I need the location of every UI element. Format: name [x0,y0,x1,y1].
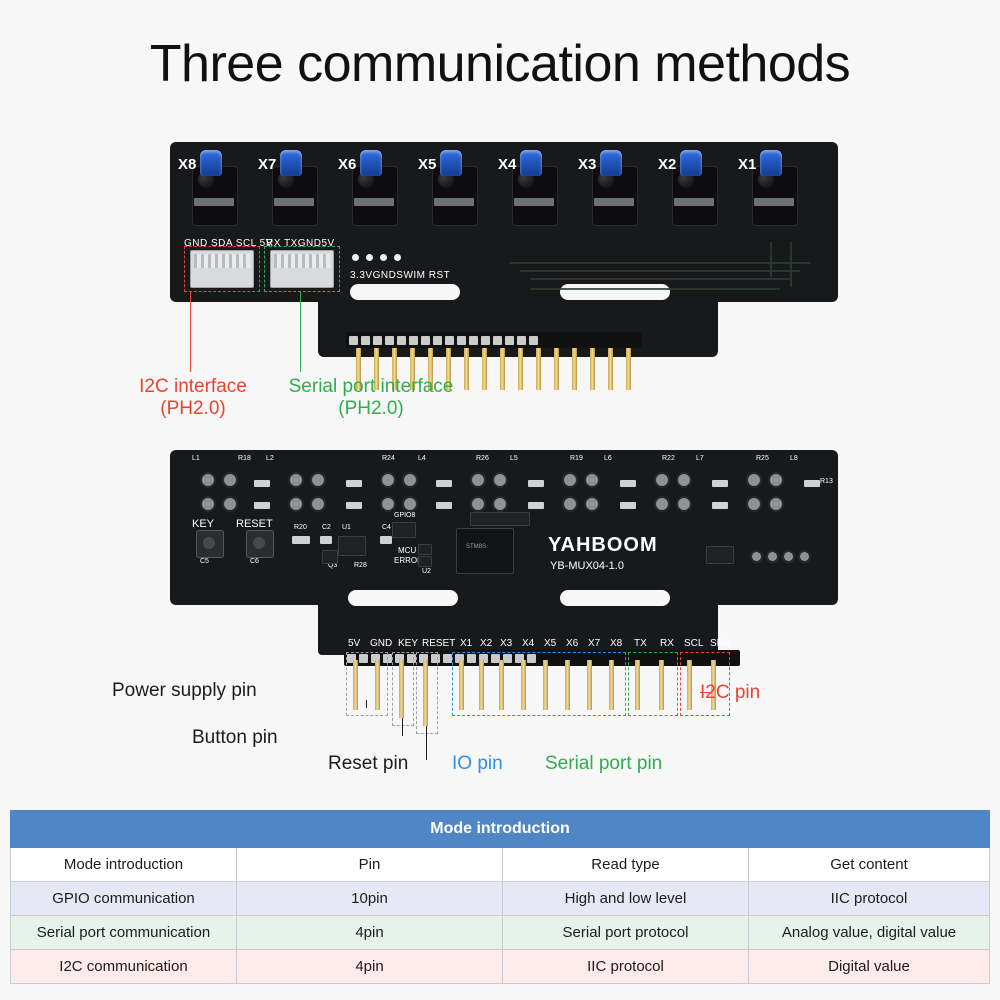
silk-u2: U2 [422,568,431,575]
silk-l6: L6 [604,455,612,462]
solder-pad [200,472,216,488]
callout-serial-sub: (PH2.0) [262,398,480,420]
silk-r28: R28 [354,562,367,569]
cell-mode: Serial port communication [11,916,237,950]
pin-silk-x2: X2 [480,638,492,649]
silk-l2: L2 [266,455,274,462]
header-pin [590,348,595,390]
pin-silk-gnd: GND [370,638,392,649]
reset-button[interactable] [246,530,274,558]
callout-serial-interface: Serial port interface (PH2.0) [262,376,480,420]
silk-r26: R26 [476,455,489,462]
smd-resistor [254,480,270,487]
top-board-diagram: X8 X7 X6 X5 X4 X3 X2 X1 GND SDA SCL 5V R… [170,142,838,402]
button-pin-box [392,652,414,726]
col-header-read: Read type [503,848,749,882]
solder-pad [766,550,779,563]
sensor-label-x8: X8 [178,156,196,173]
key-button[interactable] [196,530,224,558]
col-header-pin: Pin [237,848,503,882]
solder-pad [768,472,784,488]
pin-silk-x6: X6 [566,638,578,649]
cell-content: Digital value [749,950,990,984]
led-error [418,556,432,567]
pcb-trace [770,242,772,277]
solder-pad [562,496,578,512]
solder-pad [746,496,762,512]
callout-serial-port-pin: Serial port pin [545,753,662,775]
silk-r13: R13 [820,478,833,485]
board-slot-right [560,284,670,300]
pin-silk-x5: X5 [544,638,556,649]
pin-silk-key: KEY [398,638,418,649]
pin-silk-scl: SCL [684,638,703,649]
silk-c4: C4 [382,524,391,531]
io-pin-box [452,652,626,716]
smd-resistor [528,480,544,487]
table-header-row: Mode introduction Pin Read type Get cont… [11,848,990,882]
callout-power-supply-pin: Power supply pin [112,680,257,702]
solder-pad [492,472,508,488]
pin-silk-sda: SDA [710,638,731,649]
smd-block [706,546,734,564]
smd-resistor [528,502,544,509]
silk-l5: L5 [510,455,518,462]
pcb-trace [790,242,792,287]
cell-mode: I2C communication [11,950,237,984]
solder-pad [746,472,762,488]
ic-u1 [338,536,366,556]
board-model: YB-MUX04-1.0 [550,560,624,572]
pin-silk-tx: TX [634,638,647,649]
pin-silk-x7: X7 [588,638,600,649]
cell-content: Analog value, digital value [749,916,990,950]
solder-pad [584,472,600,488]
debug-header-silk: 3.3VGNDSWIM RST [350,270,450,281]
sensor-label-x6: X6 [338,156,356,173]
smd-resistor [346,480,362,487]
power-pin-box [346,652,388,716]
cell-pin: 4pin [237,950,503,984]
pcb-trace [530,288,780,290]
serial-pin-box [628,652,678,716]
silk-c8: C2 [322,524,331,531]
cell-read: Serial port protocol [503,916,749,950]
header-pin [608,348,613,390]
silk-gpio8: GPIO8 [394,512,415,519]
pin-silk-reset: RESET [422,638,455,649]
table-row: GPIO communication 10pin High and low le… [11,882,990,916]
solder-pad [222,496,238,512]
board-slot-left [350,284,460,300]
bottom-pin-header [346,332,642,348]
reset-leader-line [426,726,427,760]
gpio8-pads [392,522,416,538]
callout-i2c-pin: I2C pin [700,682,760,704]
solder-pad [288,472,304,488]
silk-reset: RESET [236,518,273,530]
smd-resistor [712,480,728,487]
pin-silk-x1: X1 [460,638,472,649]
solder-pad [782,550,795,563]
transistor-q3 [322,550,338,564]
solder-pad [402,472,418,488]
cell-read: High and low level [503,882,749,916]
sensor-label-x7: X7 [258,156,276,173]
silk-l8: L8 [790,455,798,462]
pcb-trace [530,278,790,280]
serial-leader-line [300,292,301,372]
solder-pad [380,496,396,512]
sensor-label-x2: X2 [658,156,676,173]
silk-c6: C6 [250,558,259,565]
smd-resistor [346,502,362,509]
pcb-trace [510,262,810,264]
led-mcu [418,544,432,555]
header-pin [536,348,541,390]
smd-resistor [804,480,820,487]
smd-resistor [436,502,452,509]
cell-content: IIC protocol [749,882,990,916]
mcu-chip-marking: STM8S [466,544,486,550]
sensor-label-x1: X1 [738,156,756,173]
solder-pad [470,496,486,512]
solder-pad [470,472,486,488]
solder-pad [288,496,304,512]
silk-mcu: MCU [398,546,416,555]
reset-pin-box [416,652,438,734]
solder-pad [654,496,670,512]
i2c-highlight-box [184,246,260,292]
silk-l7: L7 [696,455,704,462]
silk-c5: C5 [200,558,209,565]
header-pin [518,348,523,390]
solder-pad [222,472,238,488]
solder-pad [750,550,763,563]
solder-pad [310,472,326,488]
header-pin [626,348,631,390]
cell-read: IIC protocol [503,950,749,984]
smd-capacitor [380,536,392,544]
solder-pad [798,550,811,563]
pcb-trace [520,270,800,272]
smd-resistor [620,502,636,509]
smd-resistor [712,502,728,509]
solder-pad [584,496,600,512]
solder-pad [310,496,326,512]
page-title: Three communication methods [0,34,1000,94]
silk-r25: R25 [756,455,769,462]
header-pin [500,348,505,390]
pin-silk-5v: 5V [348,638,360,649]
test-header [470,512,530,526]
sensor-label-x5: X5 [418,156,436,173]
silk-r18: R18 [238,455,251,462]
pin-silk-x3: X3 [500,638,512,649]
board-slot-left [348,590,458,606]
solder-pad [380,472,396,488]
brand-logo: YAHBOOM [548,534,658,557]
header-pin [482,348,487,390]
table-row: Serial port communication 4pin Serial po… [11,916,990,950]
pin-silk-x8: X8 [610,638,622,649]
silk-r19: R19 [570,455,583,462]
mcu-chip [456,528,514,574]
pin-silk-x4: X4 [522,638,534,649]
solder-pad [676,472,692,488]
callout-reset-pin: Reset pin [328,753,408,775]
cell-mode: GPIO communication [11,882,237,916]
smd-resistor [254,502,270,509]
col-header-mode: Mode introduction [11,848,237,882]
header-pin [554,348,559,390]
cell-pin: 4pin [237,916,503,950]
i2c-leader-line [190,292,191,372]
callout-serial-label: Serial port interface [262,376,480,398]
solder-pad [676,496,692,512]
smd-capacitor [320,536,332,544]
smd-resistor [620,480,636,487]
table-caption: Mode introduction [11,811,990,848]
solder-pad [402,496,418,512]
test-pads [352,254,401,261]
silk-key: KEY [192,518,214,530]
solder-pad [492,496,508,512]
silk-r22: R22 [662,455,675,462]
sensor-label-x4: X4 [498,156,516,173]
solder-pad [654,472,670,488]
solder-pad [200,496,216,512]
silk-r24: R24 [382,455,395,462]
cell-pin: 10pin [237,882,503,916]
sensor-label-x3: X3 [578,156,596,173]
serial-highlight-box [264,246,340,292]
silk-r20: R20 [294,524,307,531]
silk-u1: U1 [342,524,351,531]
solder-pad [562,472,578,488]
smd-resistor [292,536,310,544]
silk-l4: L4 [418,455,426,462]
header-pin [572,348,577,390]
mode-introduction-table: Mode introduction Mode introduction Pin … [10,810,990,984]
board-slot-right [560,590,670,606]
smd-resistor [436,480,452,487]
callout-io-pin: IO pin [452,753,503,775]
solder-pad [768,496,784,512]
power-leader-line [366,700,367,708]
button-leader-line [402,718,403,736]
silk-l1: L1 [192,455,200,462]
pin-silk-rx: RX [660,638,674,649]
callout-button-pin: Button pin [192,727,278,749]
col-header-content: Get content [749,848,990,882]
table-row: I2C communication 4pin IIC protocol Digi… [11,950,990,984]
